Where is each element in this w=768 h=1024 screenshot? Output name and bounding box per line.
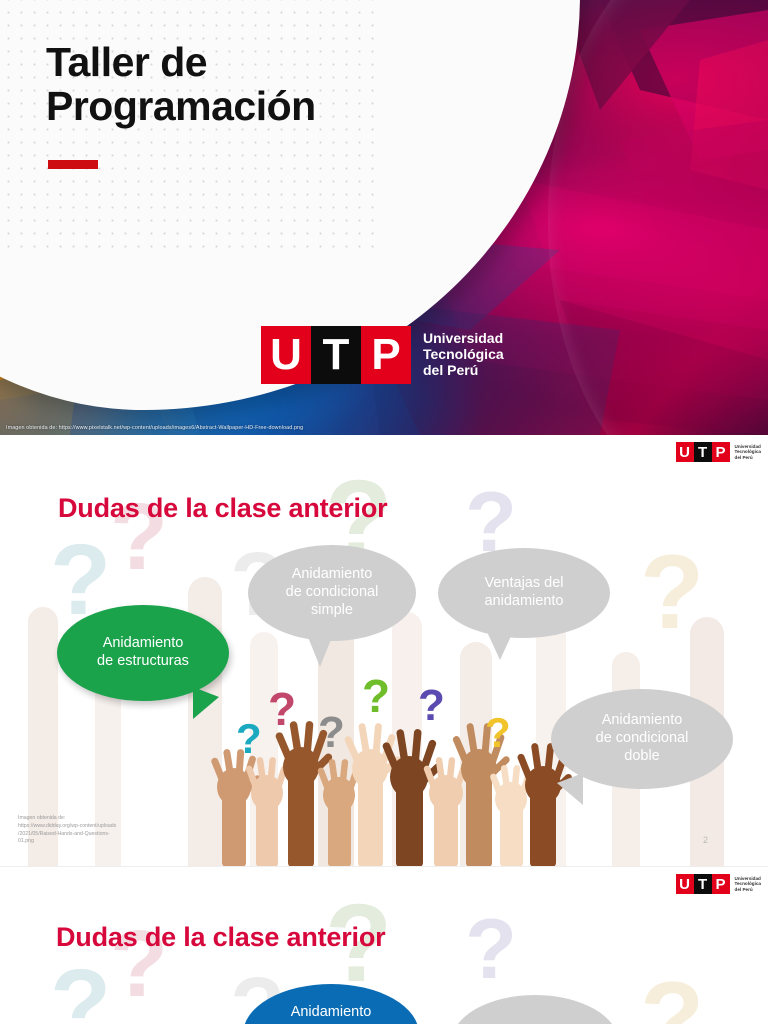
utp-logo-marks: U T P <box>261 326 411 384</box>
utp-logo-subtitle: Universidad Tecnológica del Perú <box>735 444 761 459</box>
page-title: Taller de Programación <box>46 40 316 129</box>
speech-bubble-tail <box>193 687 219 719</box>
speech-bubble-placeholder[interactable] <box>451 995 619 1024</box>
slide-dudas-clase-anterior-1: ? ? ? ? ? ? <box>0 435 768 867</box>
slide-title: Taller de Programación U T P Universidad… <box>0 0 768 435</box>
image-source-caption: Imagen obtenida de: https://www.didday.o… <box>18 815 116 846</box>
question-mark-icon-purple: ? <box>418 684 445 728</box>
speech-bubble-tail <box>308 637 332 667</box>
background-question-mark-icon: ? <box>640 967 704 1024</box>
page-title: Dudas de la clase anterior <box>56 922 385 953</box>
question-mark-icon-teal: ? <box>236 718 262 760</box>
utp-logo-marks: U T P <box>676 874 730 894</box>
utp-letter-u: U <box>676 442 694 462</box>
question-mark-icon-pink: ? <box>268 686 296 732</box>
utp-logo-marks: U T P <box>676 442 730 462</box>
utp-letter-p: P <box>712 874 730 894</box>
page-title: Dudas de la clase anterior <box>58 493 387 524</box>
utp-logo: U T P Universidad Tecnológica del Perú <box>261 326 504 384</box>
question-mark-icon-yellow: ? <box>485 712 511 754</box>
utp-letter-u: U <box>261 326 311 384</box>
speech-bubble-text: Anidamiento de condicional simple <box>276 566 389 619</box>
speech-bubble-tail <box>488 634 512 660</box>
speech-bubble-text: Ventajas del anidamiento <box>474 575 573 610</box>
title-underline-rule <box>48 160 98 169</box>
utp-letter-p: P <box>712 442 730 462</box>
speech-bubble-ventajas-anidamiento[interactable]: Ventajas del anidamiento <box>438 548 610 638</box>
slides-page: Taller de Programación U T P Universidad… <box>0 0 768 1024</box>
speech-bubble-text: Anidamiento de estructuras <box>87 635 199 670</box>
speech-bubble-text: Anidamiento de condicional doble <box>586 712 699 765</box>
speech-bubble-anidamiento-condicional-simple[interactable]: Anidamiento de condicional simple <box>248 545 416 641</box>
background-question-mark-icon: ? <box>465 907 517 992</box>
utp-logo: U T P Universidad Tecnológica del Perú <box>676 442 761 462</box>
slide-dudas-clase-anterior-2: ? ? ? ? ? ? Anidamiento Dudas de la clas… <box>0 867 768 1024</box>
utp-logo-subtitle: Universidad Tecnológica del Perú <box>735 876 761 891</box>
background-question-mark-icon: ? <box>50 955 111 1024</box>
image-source-caption: Imagen obtenida de: https://www.pixelsta… <box>6 425 303 431</box>
utp-letter-p: P <box>361 326 411 384</box>
speech-bubble-anidamiento-estructuras[interactable]: Anidamiento de estructuras <box>57 605 229 701</box>
utp-letter-t: T <box>311 326 361 384</box>
utp-letter-u: U <box>676 874 694 894</box>
utp-logo: U T P Universidad Tecnológica del Perú <box>676 874 761 894</box>
utp-logo-subtitle: Universidad Tecnológica del Perú <box>423 331 504 378</box>
page-number: 2 <box>703 835 708 845</box>
speech-bubble-tail <box>557 773 583 805</box>
question-mark-icon-grey: ? <box>318 711 345 755</box>
speech-bubble-anidamiento-condicional-doble[interactable]: Anidamiento de condicional doble <box>551 689 733 789</box>
speech-bubble-text: Anidamiento <box>281 1004 382 1022</box>
swoosh-highlight <box>548 0 768 435</box>
utp-letter-t: T <box>694 874 712 894</box>
question-mark-icon-green: ? <box>362 673 390 719</box>
utp-letter-t: T <box>694 442 712 462</box>
